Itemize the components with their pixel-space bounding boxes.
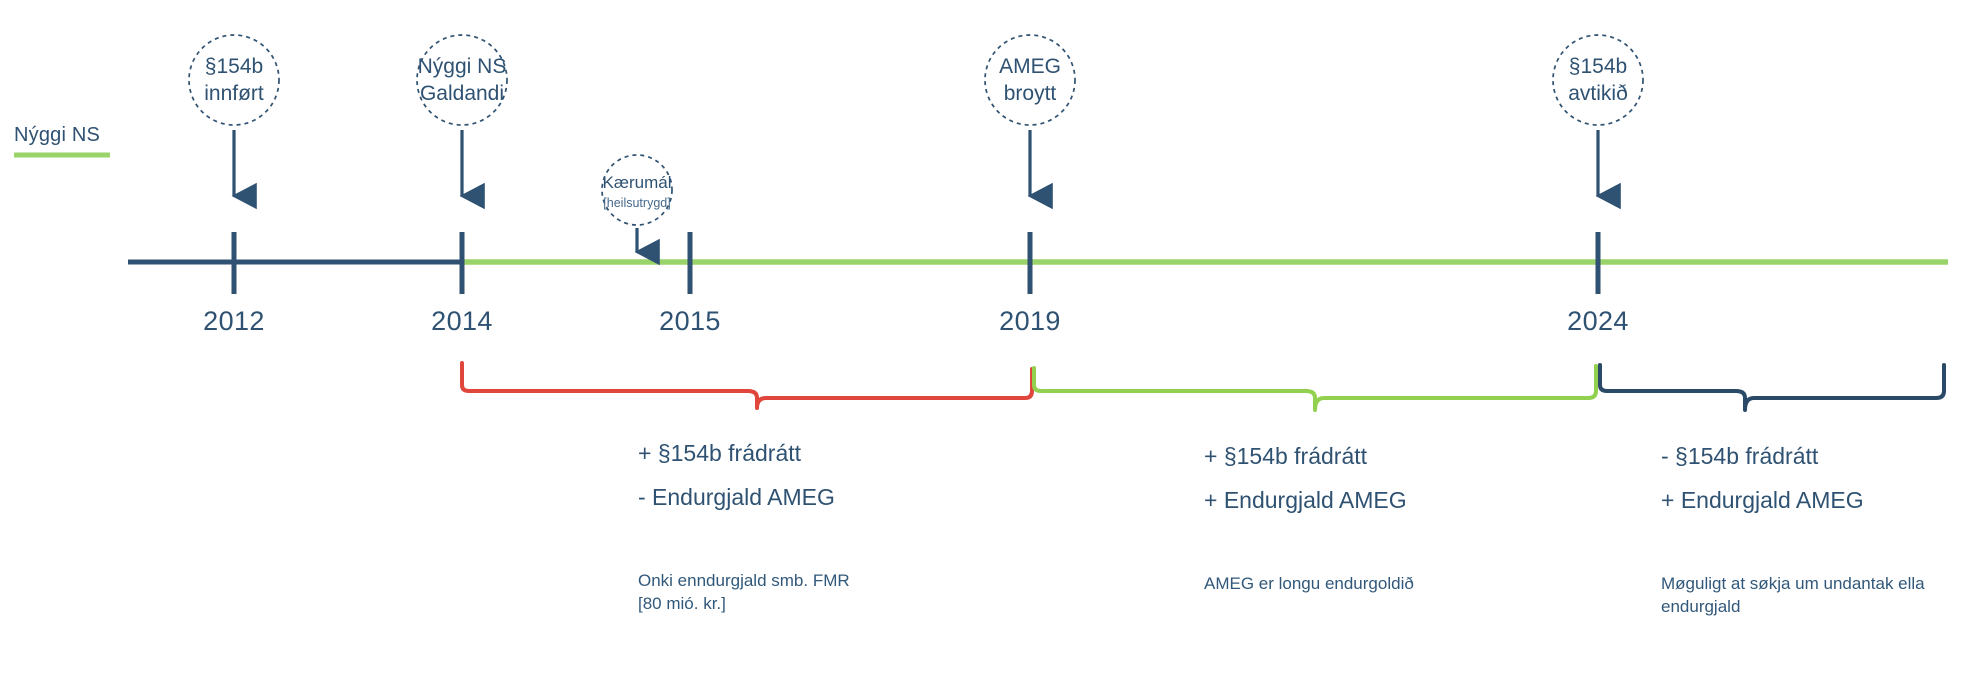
section-red-line2: - Endurgjald AMEG — [638, 484, 835, 511]
year-label-2014: 2014 — [397, 306, 527, 337]
legend-label: Nýggi NS — [14, 124, 100, 147]
event-label-kaerumal: Kærumál [heilsutrygd] — [577, 172, 697, 211]
event-title-ameg-broytt: AMEG — [999, 55, 1061, 78]
event-title2-154b-avtikid: avtikið — [1568, 82, 1628, 105]
event-title-154b-avtikid: §154b — [1569, 55, 1627, 78]
bracket-red — [462, 363, 1032, 408]
timeline-diagram: Nýggi NS §154b innført Nýggi NS Galdandi… — [0, 0, 1982, 684]
event-circle-ameg-broytt — [985, 35, 1075, 125]
section-green-line1: + §154b frádrátt — [1204, 443, 1367, 470]
section-red-line1: + §154b frádrátt — [638, 440, 801, 467]
section-green-line2: + Endurgjald AMEG — [1204, 487, 1407, 514]
year-label-2019: 2019 — [965, 306, 1095, 337]
event-title-nyggi-ns-galdandi: Nýggi NS — [418, 55, 507, 78]
event-circle-nyggi-ns-galdandi — [417, 35, 507, 125]
year-label-2012: 2012 — [169, 306, 299, 337]
event-circle-154b-innfort — [189, 35, 279, 125]
section-navy-line2: + Endurgjald AMEG — [1661, 487, 1864, 514]
event-title2-154b-innfort: innført — [204, 82, 264, 105]
event-circle-154b-avtikid — [1553, 35, 1643, 125]
event-title-kaerumal: Kærumál — [603, 173, 672, 192]
section-navy-note: Møguligt at søkja um undantak ella endur… — [1661, 573, 1961, 619]
event-label-154b-avtikid: §154b avtikið — [1533, 54, 1663, 108]
event-label-nyggi-ns-galdandi: Nýggi NS Galdandi — [397, 54, 527, 108]
event-label-154b-innfort: §154b innført — [169, 54, 299, 108]
section-navy-line1: - §154b frádrátt — [1661, 443, 1818, 470]
event-subtitle-kaerumal: [heilsutrygd] — [577, 195, 697, 211]
event-title-154b-innfort: §154b — [205, 55, 263, 78]
section-green-note: AMEG er longu endurgoldið — [1204, 573, 1564, 596]
year-label-2024: 2024 — [1533, 306, 1663, 337]
bracket-green — [1034, 366, 1596, 410]
year-label-2015: 2015 — [625, 306, 755, 337]
event-circle-kaerumal — [602, 155, 672, 225]
section-red-note: Onki enndurgjald smb. FMR [80 mió. kr.] — [638, 570, 968, 616]
event-label-ameg-broytt: AMEG broytt — [965, 54, 1095, 108]
event-title2-nyggi-ns-galdandi: Galdandi — [420, 82, 504, 105]
event-title2-ameg-broytt: broytt — [1004, 82, 1057, 105]
bracket-navy — [1600, 365, 1944, 410]
